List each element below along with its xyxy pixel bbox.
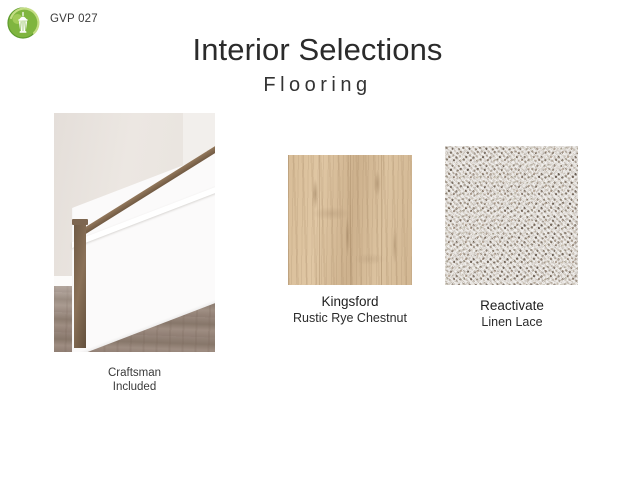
interior-selections-slide: GVP 027 Interior Selections Flooring	[0, 0, 635, 480]
staircase-caption: Craftsman Included	[54, 366, 215, 395]
wood-flooring-description: Rustic Rye Chestnut	[266, 311, 434, 327]
photo-newel-post	[74, 223, 86, 348]
carpet-name: Reactivate	[448, 298, 576, 315]
carpet-swatch	[445, 146, 578, 285]
wood-flooring-swatch	[288, 155, 412, 285]
carpet-description: Linen Lace	[448, 315, 576, 331]
carpet-caption: Reactivate Linen Lace	[448, 298, 576, 331]
staircase-caption-line1: Craftsman	[54, 366, 215, 380]
wood-flooring-name: Kingsford	[266, 294, 434, 311]
plan-code-label: GVP 027	[50, 13, 98, 25]
staircase-caption-line2: Included	[54, 380, 215, 394]
page-title: Interior Selections	[0, 33, 635, 67]
staircase-photo	[54, 113, 215, 352]
wood-grain-overlay	[288, 155, 412, 285]
carpet-pile-overlay	[445, 146, 578, 285]
page-subtitle: Flooring	[0, 74, 635, 96]
wood-flooring-caption: Kingsford Rustic Rye Chestnut	[266, 294, 434, 327]
photo-newel-cap	[72, 219, 88, 225]
